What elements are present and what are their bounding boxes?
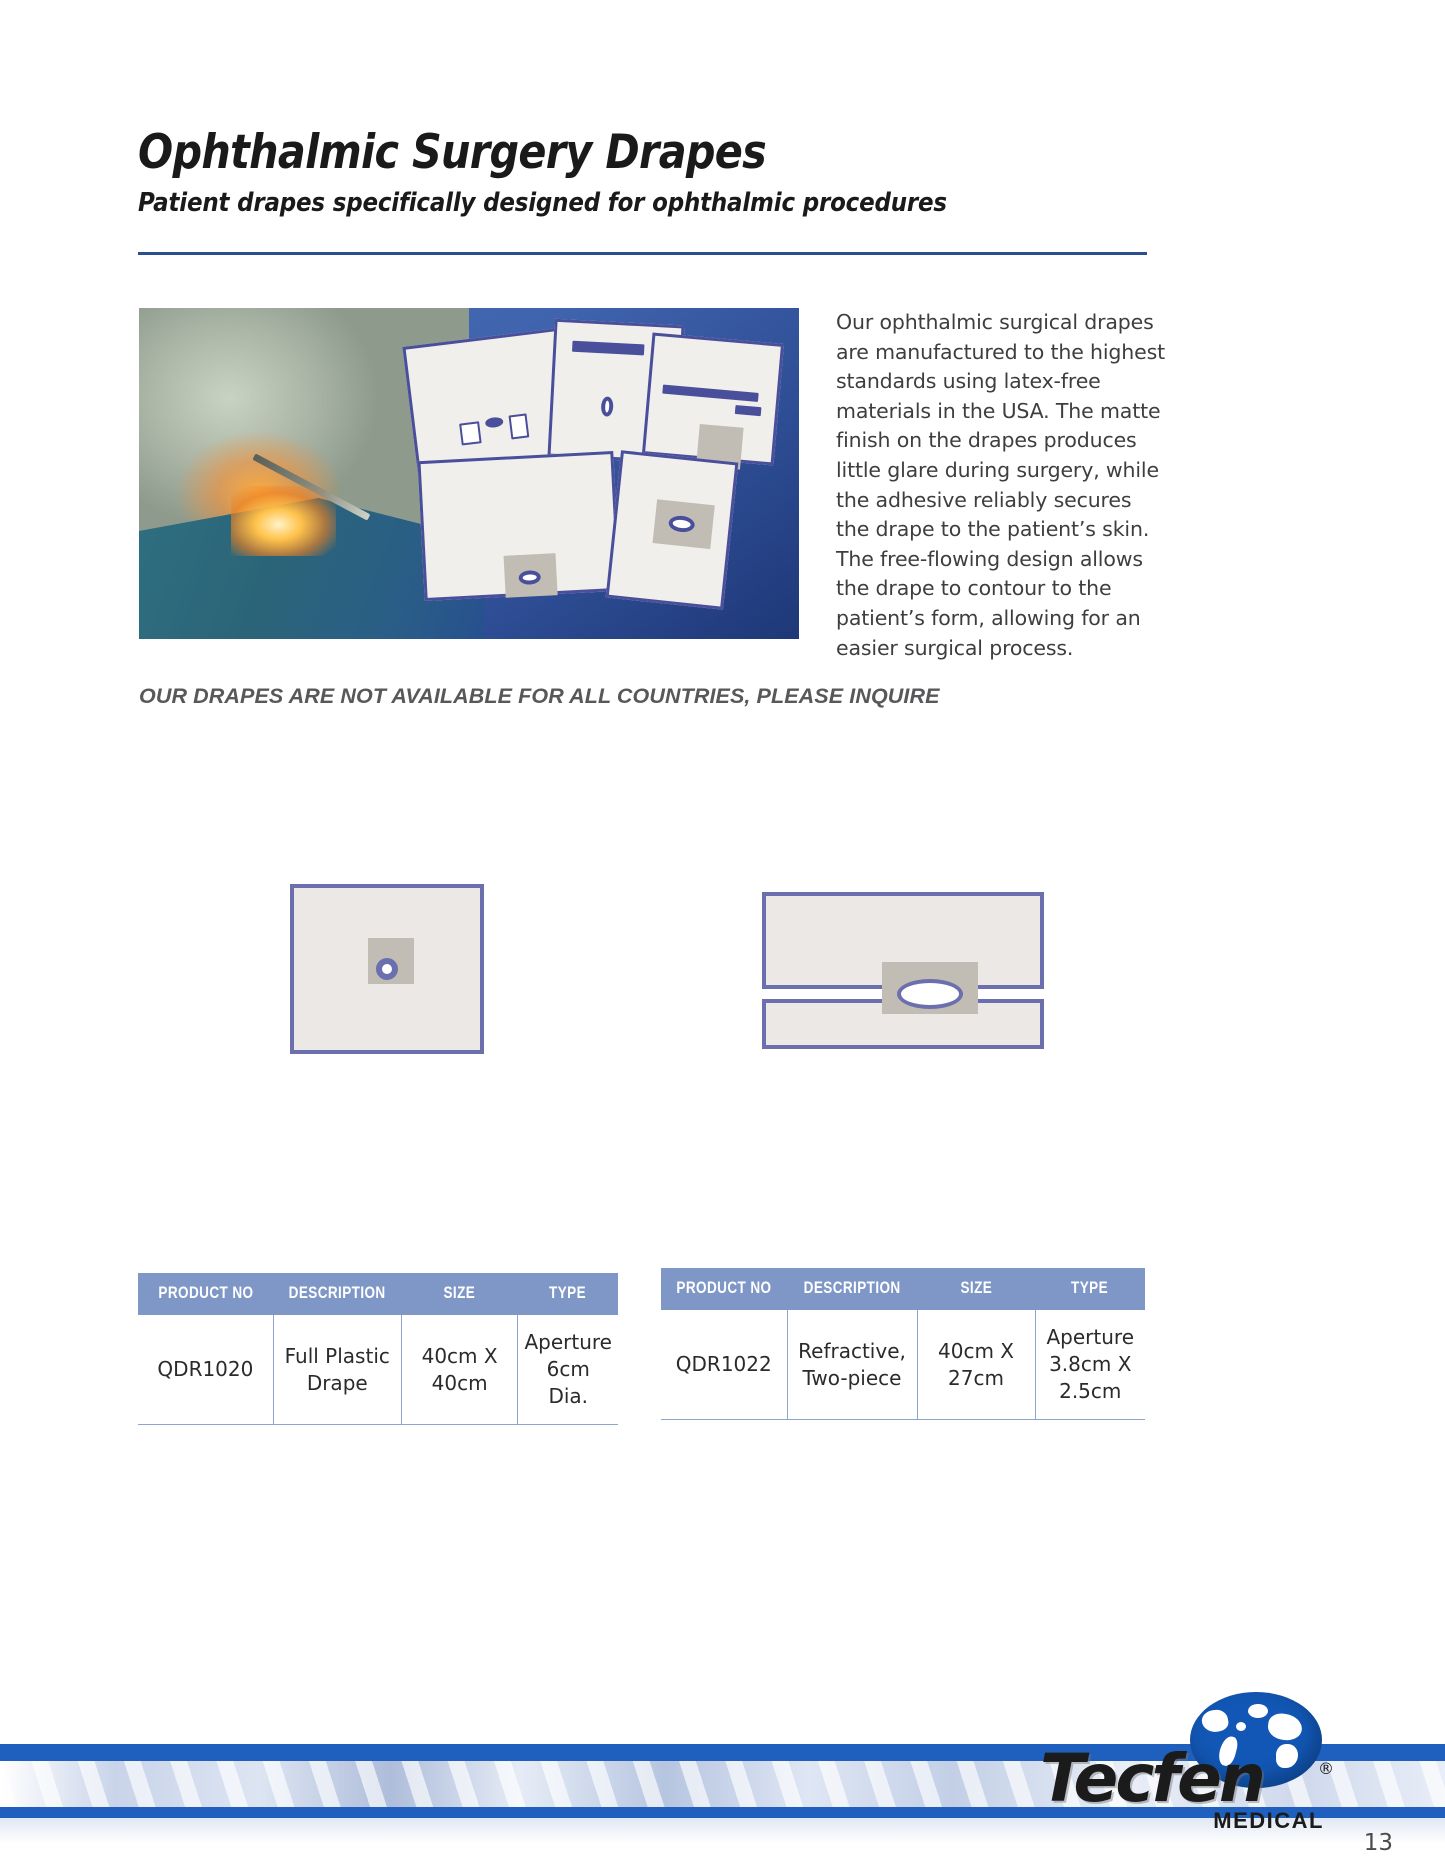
availability-disclaimer: OUR DRAPES ARE NOT AVAILABLE FOR ALL COU… — [139, 684, 1139, 709]
photo-drape-3-bar-a — [662, 385, 758, 402]
column-header-description: DESCRIPTION — [787, 1268, 917, 1310]
table-row: QDR1020 Full Plastic Drape 40cm X 40cm A… — [138, 1315, 618, 1425]
drape-aperture-hole — [376, 958, 398, 980]
photo-drape-4 — [417, 451, 620, 601]
cell-size: 40cm X 27cm — [917, 1310, 1035, 1420]
column-header-size: SIZE — [401, 1273, 518, 1315]
cell-product-no: QDR1020 — [138, 1315, 273, 1425]
column-header-size: SIZE — [917, 1268, 1035, 1310]
cell-type: Aperture 3.8cm X 2.5cm — [1035, 1310, 1145, 1420]
column-header-product-no: PRODUCT NO — [138, 1273, 273, 1315]
cell-product-no: QDR1022 — [661, 1310, 787, 1420]
product-table-left: PRODUCT NO DESCRIPTION SIZE TYPE QDR1020… — [138, 1273, 618, 1425]
photo-drape-2-bar — [572, 341, 644, 356]
photo-drape-2-aperture — [601, 396, 614, 417]
page-number: 13 — [1364, 1830, 1393, 1856]
product-table-right: PRODUCT NO DESCRIPTION SIZE TYPE QDR1022… — [661, 1268, 1145, 1420]
cell-description: Refractive, Two-piece — [787, 1310, 917, 1420]
tecfen-logo: Tecfen ® MEDICAL — [1040, 1692, 1330, 1842]
intro-paragraph: Our ophthalmic surgical drapes are manuf… — [836, 308, 1166, 663]
cell-description: Full Plastic Drape — [273, 1315, 401, 1425]
photo-drape-1-bar-a — [459, 421, 482, 445]
cell-type: Aperture 6cm Dia. — [518, 1315, 618, 1425]
cell-size: 40cm X 40cm — [401, 1315, 518, 1425]
column-header-product-no: PRODUCT NO — [661, 1268, 787, 1310]
column-header-type: TYPE — [1035, 1268, 1145, 1310]
brand-division: MEDICAL — [1213, 1808, 1324, 1834]
page-header: Ophthalmic Surgery Drapes Patient drapes… — [138, 128, 1158, 218]
column-header-description: DESCRIPTION — [273, 1273, 401, 1315]
registered-trademark-icon: ® — [1318, 1759, 1334, 1778]
photo-light-glow — [231, 486, 336, 556]
refractive-drape-aperture — [897, 979, 963, 1009]
page-title: Ophthalmic Surgery Drapes — [138, 128, 1036, 177]
ophthalmic-surgery-photo — [139, 308, 799, 639]
photo-drape-1-bar-c — [509, 413, 530, 439]
photo-drape-1-bar-b — [485, 416, 504, 428]
page-footer: Tecfen ® MEDICAL 13 — [0, 1680, 1445, 1870]
table-header-row: PRODUCT NO DESCRIPTION SIZE TYPE — [661, 1268, 1145, 1310]
full-plastic-drape-diagram — [290, 884, 484, 1054]
header-divider-rule — [138, 252, 1147, 255]
photo-drape-5 — [606, 450, 739, 610]
page-subtitle: Patient drapes specifically designed for… — [138, 188, 1056, 218]
table-row: QDR1022 Refractive, Two-piece 40cm X 27c… — [661, 1310, 1145, 1420]
document-page: Ophthalmic Surgery Drapes Patient drapes… — [0, 0, 1445, 1870]
photo-drape-3 — [642, 332, 784, 465]
brand-name: Tecfen — [1040, 1746, 1263, 1812]
photo-drape-3-bar-b — [735, 405, 762, 416]
column-header-type: TYPE — [518, 1273, 618, 1315]
table-header-row: PRODUCT NO DESCRIPTION SIZE TYPE — [138, 1273, 618, 1315]
